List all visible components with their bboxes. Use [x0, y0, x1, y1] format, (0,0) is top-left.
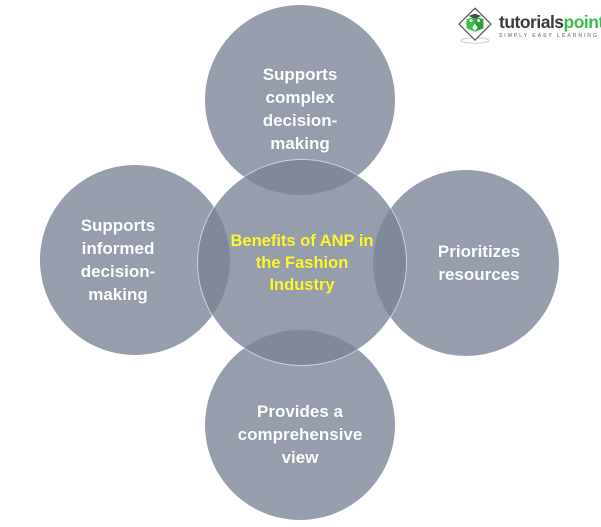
- logo-brand-point: point: [564, 12, 601, 32]
- logo-tagline: SIMPLY EASY LEARNING: [499, 32, 595, 41]
- logo-brand-text: tutorialspoint: [499, 13, 595, 31]
- circle-label-left: Supports informed decision-making: [58, 214, 178, 306]
- logo-brand-tutorials: tutorials: [499, 12, 564, 32]
- circle-benefits-of-anp-center[interactable]: Benefits of ANP in the Fashion Industry: [198, 160, 406, 365]
- benefits-venn-diagram: Supports complex decision-making Support…: [0, 0, 601, 527]
- circle-label-center: Benefits of ANP in the Fashion Industry: [227, 230, 377, 296]
- tutorialspoint-logo[interactable]: tutorialspoint SIMPLY EASY LEARNING: [455, 5, 595, 47]
- circle-label-bottom: Provides a comprehensive view: [220, 400, 380, 469]
- diagram-canvas: Supports complex decision-making Support…: [0, 0, 601, 527]
- circle-label-right: Prioritizes resources: [419, 240, 539, 286]
- tutorialspoint-diamond-book-icon: [455, 6, 495, 46]
- circle-label-top: Supports complex decision-making: [235, 63, 365, 155]
- tutorialspoint-wordmark: tutorialspoint SIMPLY EASY LEARNING: [499, 13, 595, 43]
